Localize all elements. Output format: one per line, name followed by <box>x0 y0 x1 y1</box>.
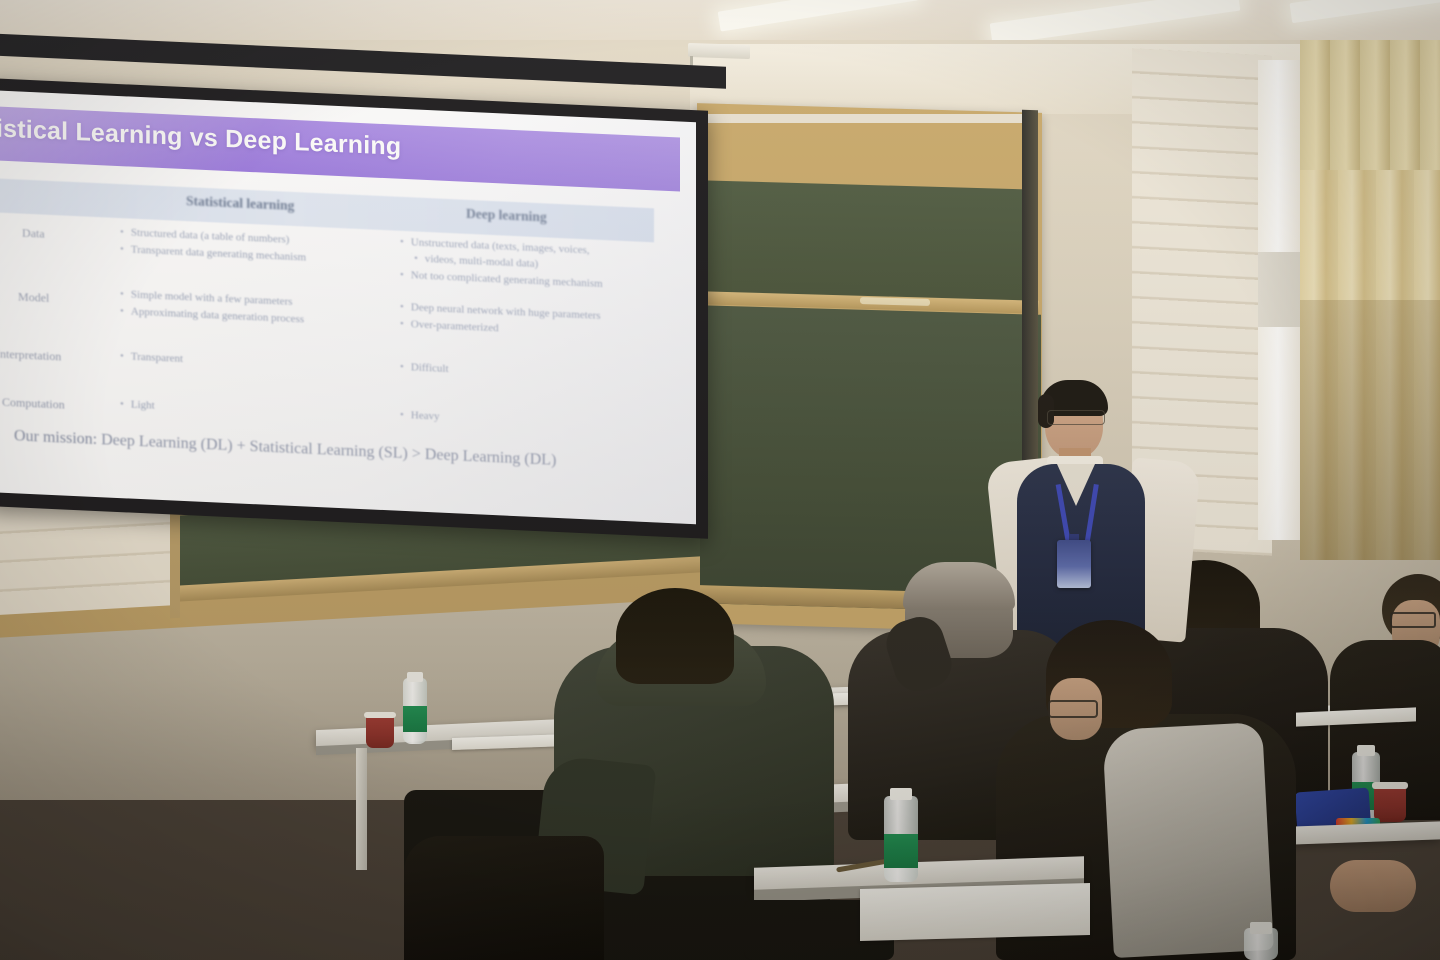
presenter-glasses <box>1047 410 1105 425</box>
cell-stat-data-1: Structured data (a table of numbers) <box>120 226 289 246</box>
row-label-computation: Computation <box>2 395 65 413</box>
cell-deep-data-3: Not too complicated generating mechanism <box>400 269 603 290</box>
mission-prefix: Our mission: <box>14 427 97 448</box>
cell-deep-data-2: videos, multi-modal data) <box>414 252 538 270</box>
cell-deep-computation: Heavy <box>400 409 440 423</box>
water-bottle-right-cap <box>1357 745 1375 756</box>
column-header-statistical: Statistical learning <box>186 193 294 214</box>
cell-stat-model-1: Simple model with a few parameters <box>120 288 292 308</box>
water-bottle-bottom-label <box>884 834 918 868</box>
ceiling-projector <box>688 43 750 59</box>
cell-stat-computation: Light <box>120 398 155 412</box>
presentation-slide: Statistical Learning vs Deep Learning St… <box>0 90 696 524</box>
attendee-far-right-glasses <box>1390 612 1436 628</box>
red-paper-cup-left <box>366 714 394 748</box>
row-label-model: Model <box>18 289 49 305</box>
left-wall-panel-edge <box>170 498 180 619</box>
chalkboard-upper-panel <box>703 180 1036 302</box>
red-paper-cup-right-lip <box>1372 782 1408 789</box>
presenter-badge <box>1057 540 1091 588</box>
column-header-deep: Deep learning <box>466 206 547 226</box>
row-label-data: Data <box>22 226 45 242</box>
row-label-interpretation: Interpretation <box>0 346 61 364</box>
red-paper-cup-right <box>1374 784 1406 822</box>
notebook-bottom <box>860 883 1090 941</box>
water-bottle-left-label <box>403 706 427 732</box>
red-paper-cup-left-lip <box>364 712 396 718</box>
attendee-far-right-hand <box>1330 860 1416 912</box>
classroom-scene: Statistical Learning vs Deep Learning St… <box>0 0 1440 960</box>
desk-left-leg-1 <box>356 748 367 870</box>
slide-comparison-table: Statistical learning Deep learning Data … <box>0 178 654 462</box>
water-bottle-bottom-cap <box>890 788 912 800</box>
curtain-valance <box>1300 40 1440 170</box>
cell-deep-interpretation: Difficult <box>400 361 449 375</box>
attendee-green-hoodie-head <box>616 588 734 684</box>
chalkboard-top-trim <box>703 114 1036 123</box>
curtain-shadow <box>1300 300 1440 560</box>
cell-deep-model-2: Over-parameterized <box>400 318 499 334</box>
water-bottle-far-right-cap <box>1250 922 1272 934</box>
cell-stat-model-2: Approximating data generation process <box>120 305 304 325</box>
projection-screen: Statistical Learning vs Deep Learning St… <box>0 78 708 539</box>
foreground-dark-mass <box>404 836 604 960</box>
water-bottle-left-cap <box>407 672 423 682</box>
desk-right-low <box>1290 821 1440 844</box>
cell-stat-data-2: Transparent data generating mechanism <box>120 243 306 263</box>
attendee-grey-vest-garment <box>1102 722 1274 958</box>
attendee-grey-vest-glasses <box>1048 700 1098 718</box>
cell-stat-interpretation: Transparent <box>120 350 183 365</box>
